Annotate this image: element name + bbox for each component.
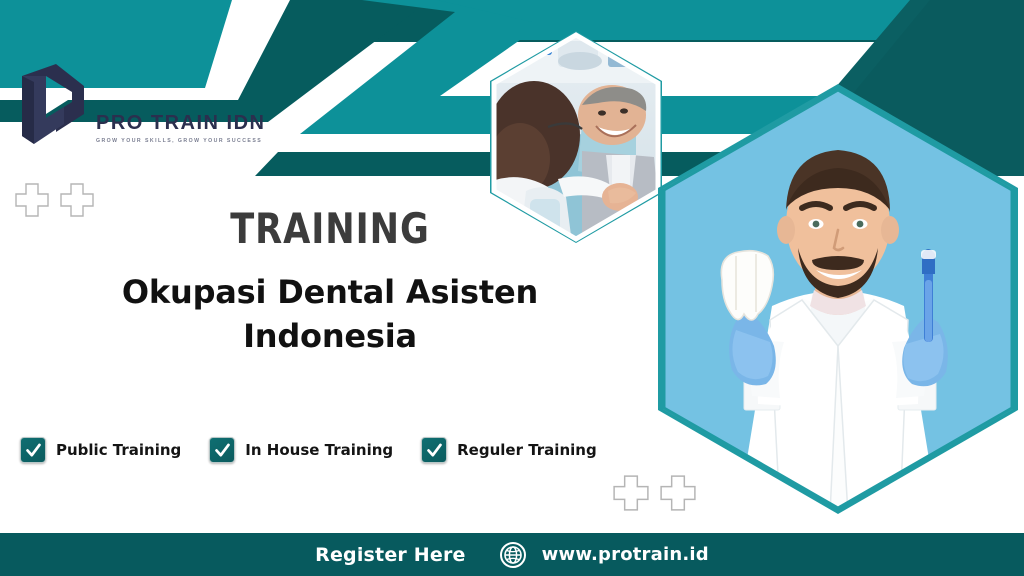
protrain-arrow-logo-icon <box>16 62 90 154</box>
globe-icon <box>500 542 526 568</box>
check-mark-icon <box>25 442 42 459</box>
training-option-label: Public Training <box>56 441 181 459</box>
title-line-1: Okupasi Dental Asisten <box>0 270 660 314</box>
promo-banner: PRO TRAIN IDN GROW YOUR SKILLS, GROW YOU… <box>0 0 1024 576</box>
checkbox-checked-icon[interactable] <box>421 437 447 463</box>
title-line-2: Indonesia <box>0 314 660 358</box>
training-option-public[interactable]: Public Training <box>20 437 181 463</box>
training-option-in-house[interactable]: In House Training <box>209 437 393 463</box>
training-option-label: In House Training <box>245 441 393 459</box>
website-url[interactable]: www.protrain.id <box>542 544 709 565</box>
check-mark-icon <box>214 442 231 459</box>
training-option-reguler[interactable]: Reguler Training <box>421 437 597 463</box>
footer-bar: Register Here www.protrain.id <box>0 533 1024 576</box>
website-group[interactable]: www.protrain.id <box>500 542 709 568</box>
checkbox-checked-icon[interactable] <box>20 437 46 463</box>
dentist-hero-photo <box>652 84 1024 514</box>
training-option-label: Reguler Training <box>457 441 597 459</box>
cross-icon <box>612 474 650 512</box>
register-here-label: Register Here <box>315 544 466 566</box>
dentist-patient-photo <box>486 31 666 243</box>
brand-name: PRO TRAIN IDN <box>96 113 266 133</box>
checkbox-checked-icon[interactable] <box>209 437 235 463</box>
page-title: Okupasi Dental Asisten Indonesia <box>0 270 660 358</box>
brand-tagline: GROW YOUR SKILLS, GROW YOUR SUCCESS <box>96 138 266 144</box>
check-mark-icon <box>426 442 443 459</box>
brand-logo: PRO TRAIN IDN GROW YOUR SKILLS, GROW YOU… <box>16 62 266 154</box>
training-options-row: Public Training In House Training Regule… <box>20 437 597 463</box>
